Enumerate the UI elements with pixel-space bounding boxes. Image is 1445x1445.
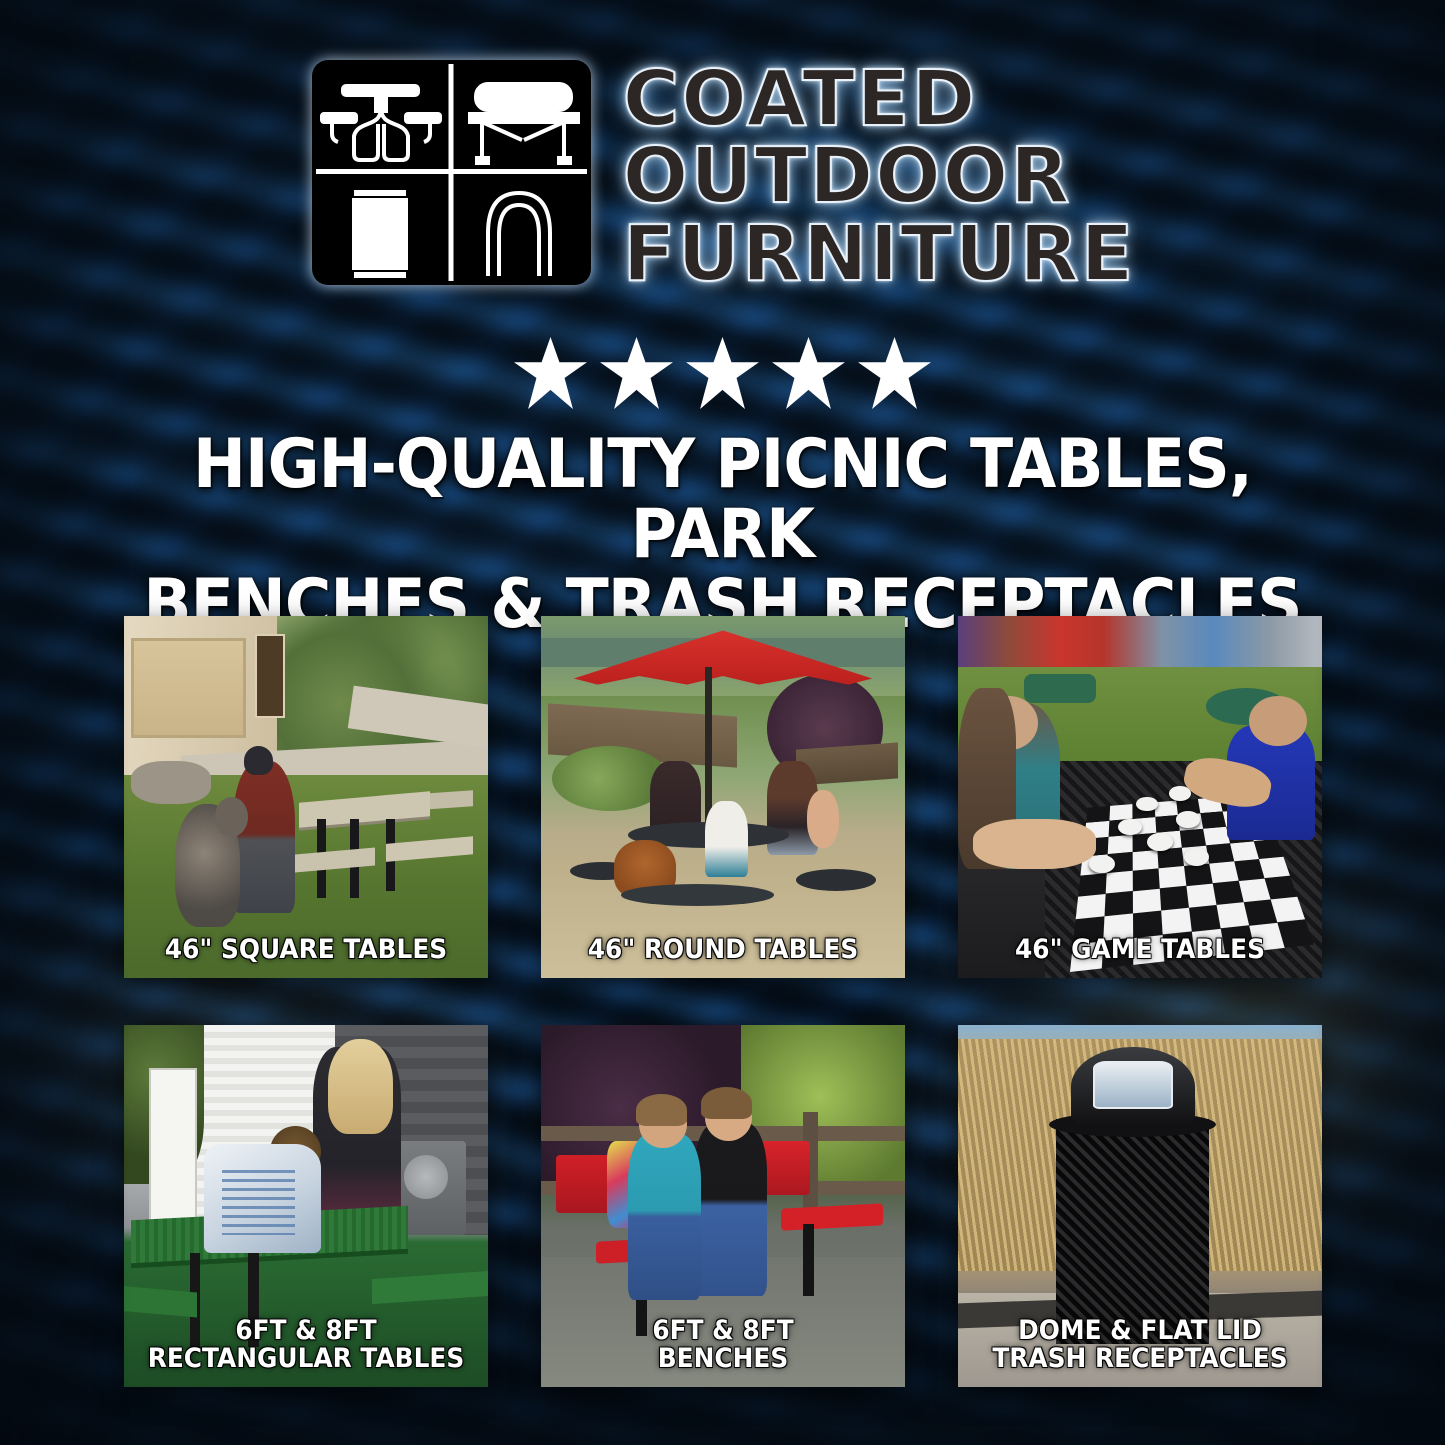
product-card-game-tables[interactable]: 46" GAME TABLES xyxy=(958,616,1322,978)
product-caption: DOME & FLAT LID TRASH RECEPTACLES xyxy=(978,1317,1302,1373)
star-icon xyxy=(685,337,761,409)
brand-name-line-1: COATED xyxy=(623,62,1135,137)
star-icon xyxy=(857,337,933,409)
star-rating xyxy=(0,337,1445,409)
product-card-round-tables[interactable]: 46" ROUND TABLES xyxy=(541,616,905,978)
product-card-rectangular-tables[interactable]: 6FT & 8FT RECTANGULAR TABLES xyxy=(124,1025,488,1387)
headline-line-1: HIGH-QUALITY PICNIC TABLES, PARK xyxy=(106,430,1338,570)
four-panel-furniture-logo-icon xyxy=(310,58,593,287)
product-caption: 46" GAME TABLES xyxy=(978,936,1302,964)
brand-name-line-2: OUTDOOR xyxy=(623,139,1135,214)
product-card-benches[interactable]: 6FT & 8FT BENCHES xyxy=(541,1025,905,1387)
product-photo-game-tables xyxy=(958,616,1322,978)
product-grid: 46" SQUARE TABLES 46" ROUND TABLES xyxy=(124,616,1322,1387)
star-icon xyxy=(771,337,847,409)
brand-header: COATED OUTDOOR FURNITURE xyxy=(0,58,1445,292)
poster-canvas: COATED OUTDOOR FURNITURE HIGH-QUALITY PI… xyxy=(0,0,1445,1445)
product-card-square-tables[interactable]: 46" SQUARE TABLES xyxy=(124,616,488,978)
star-icon xyxy=(599,337,675,409)
product-photo-square-tables xyxy=(124,616,488,978)
headline: HIGH-QUALITY PICNIC TABLES, PARK BENCHES… xyxy=(106,430,1338,640)
product-card-trash-receptacles[interactable]: DOME & FLAT LID TRASH RECEPTACLES xyxy=(958,1025,1322,1387)
brand-name-line-3: FURNITURE xyxy=(623,217,1135,292)
product-caption: 46" ROUND TABLES xyxy=(561,936,885,964)
product-caption: 6FT & 8FT RECTANGULAR TABLES xyxy=(144,1317,468,1373)
star-icon xyxy=(513,337,589,409)
product-caption: 6FT & 8FT BENCHES xyxy=(561,1317,885,1373)
brand-wordmark: COATED OUTDOOR FURNITURE xyxy=(623,58,1135,292)
product-photo-round-tables xyxy=(541,616,905,978)
product-caption: 46" SQUARE TABLES xyxy=(144,936,468,964)
